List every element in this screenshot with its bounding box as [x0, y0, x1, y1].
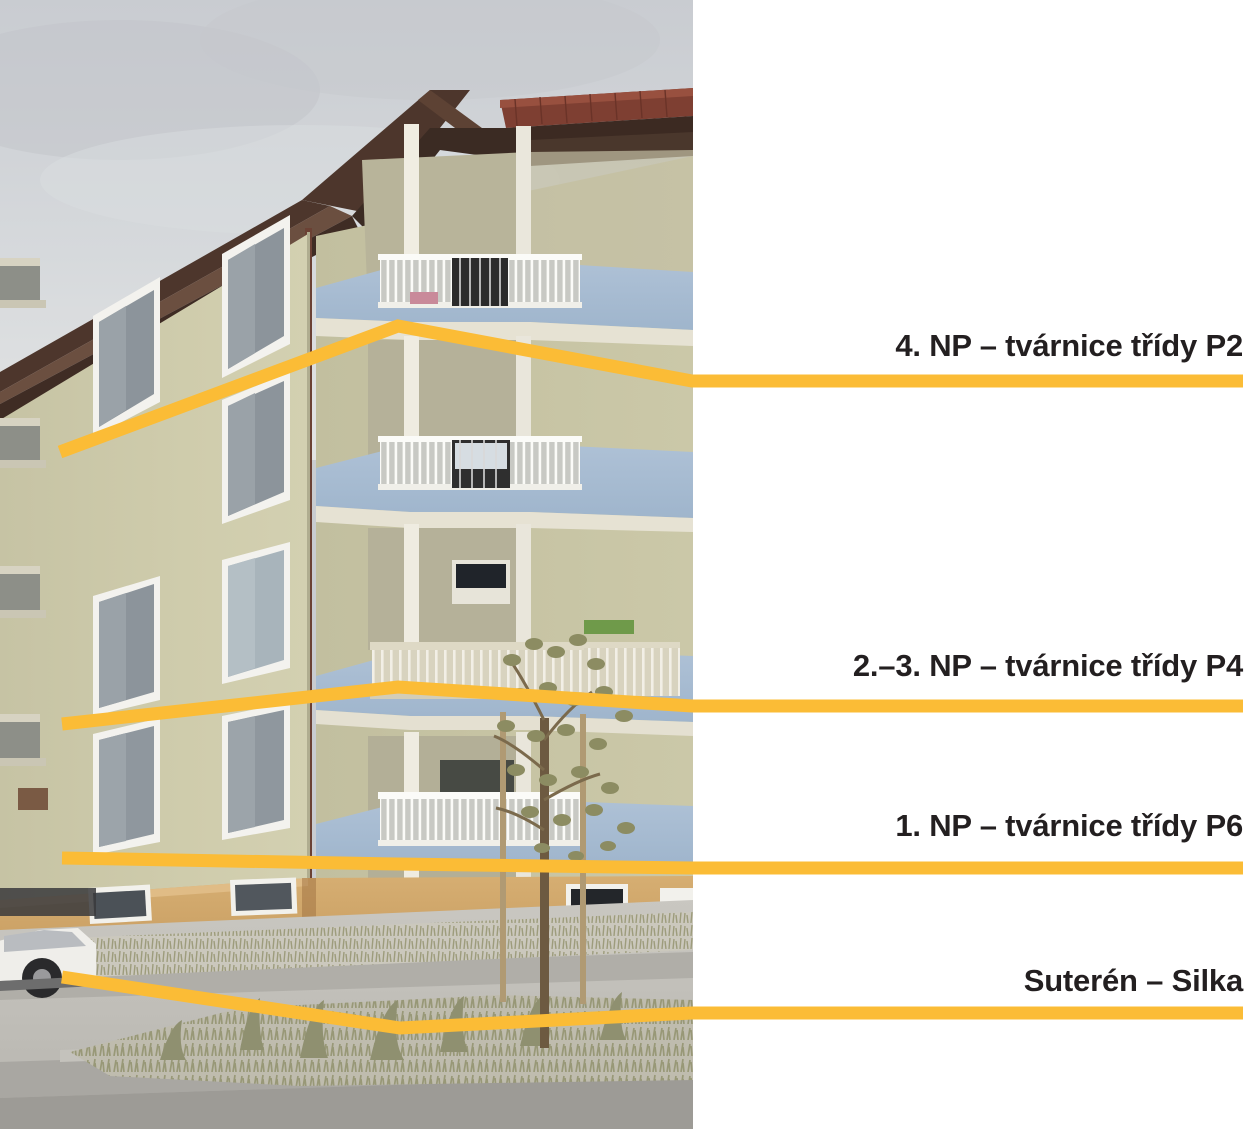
annotation-label-level-2-3: 2.–3. NP – tvárnice třídy P4 — [853, 648, 1243, 684]
figure-container: 4. NP – tvárnice třídy P2 2.–3. NP – tvá… — [0, 0, 1249, 1129]
building-photograph — [0, 0, 693, 1129]
annotation-label-basement: Suterén – Silka — [1024, 963, 1243, 999]
annotation-label-level-4: 4. NP – tvárnice třídy P2 — [895, 328, 1243, 364]
annotation-label-level-1: 1. NP – tvárnice třídy P6 — [895, 808, 1243, 844]
